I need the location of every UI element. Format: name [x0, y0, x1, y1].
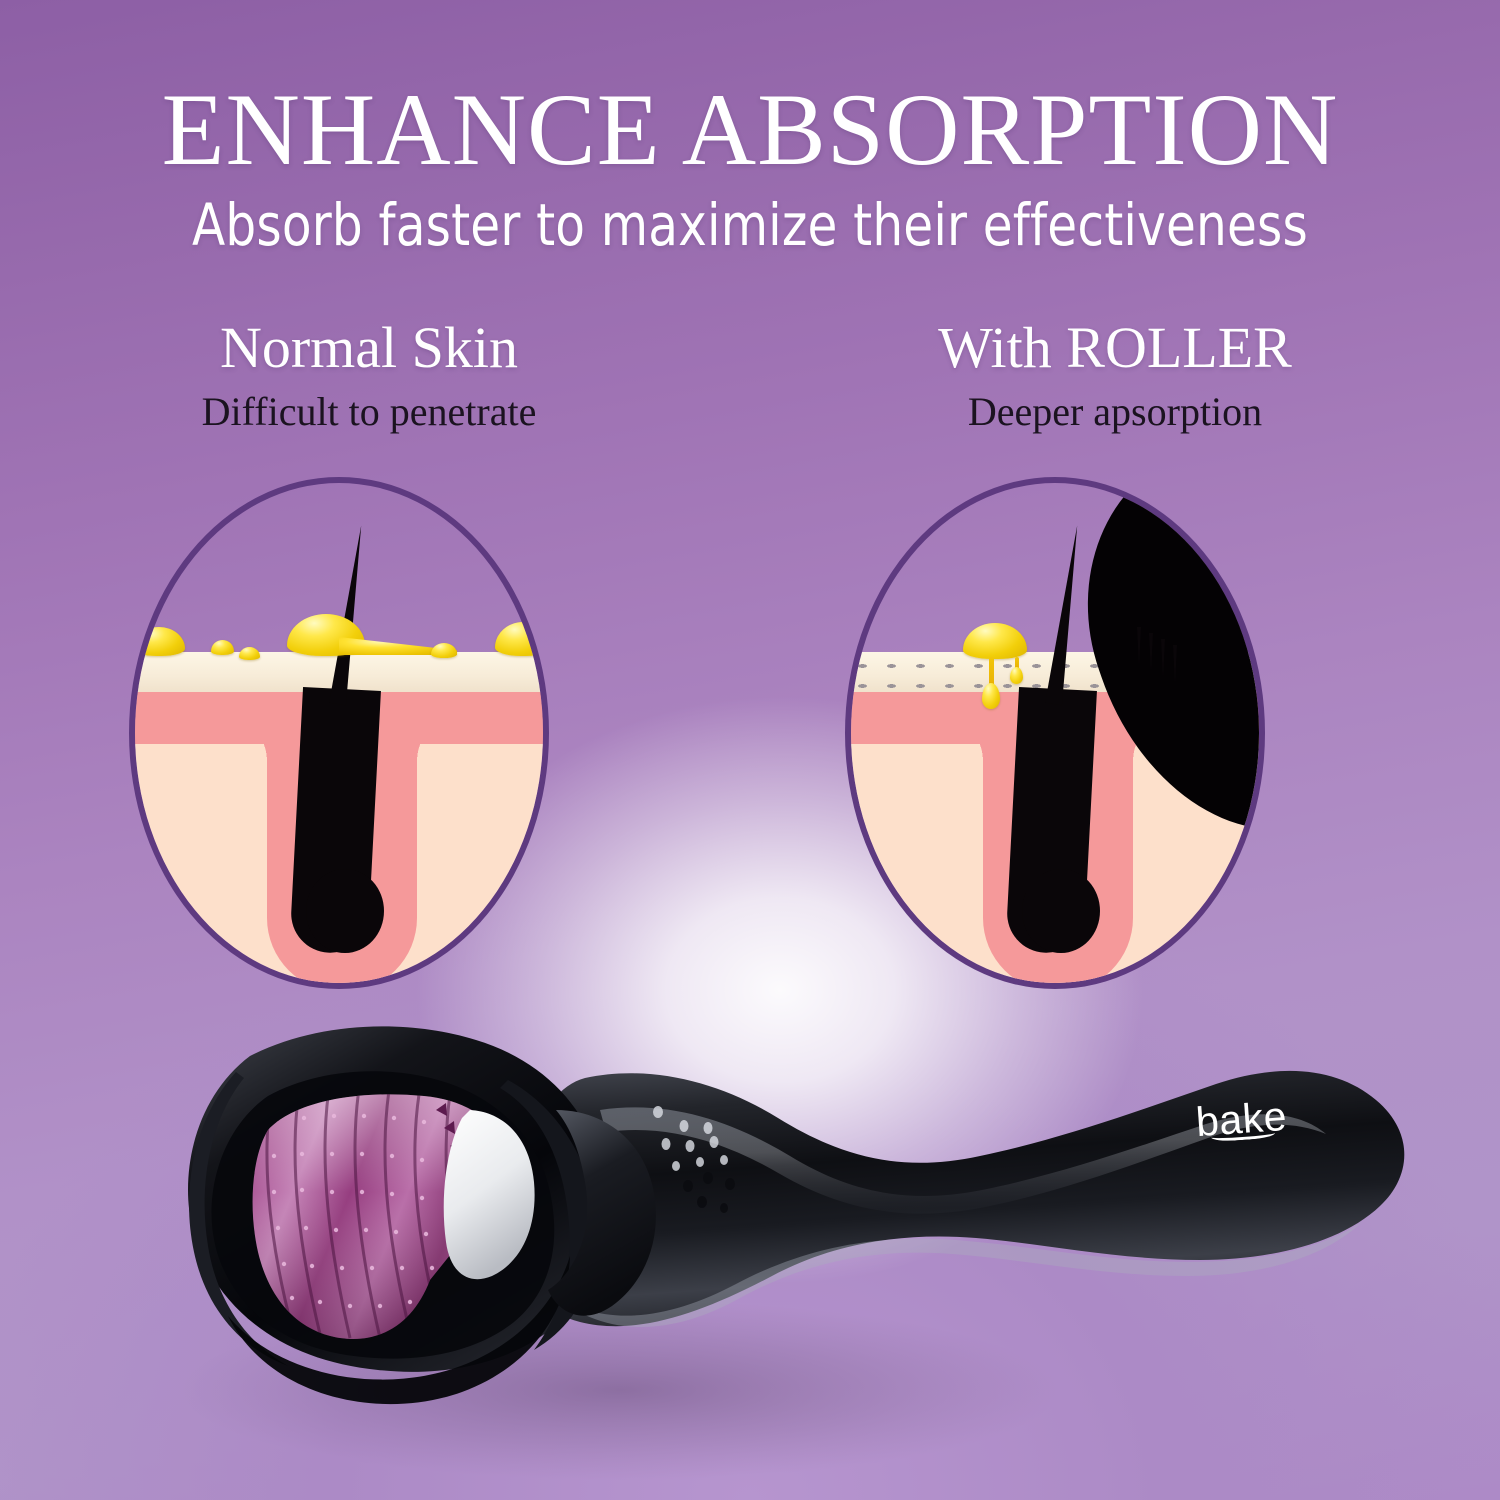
brand-logo: bake [1194, 1093, 1288, 1146]
page-subtitle: Absorb faster to maximize their effectiv… [53, 191, 1448, 259]
page-title: ENHANCE ABSORPTION [0, 78, 1500, 183]
skin-diagram-with-roller-inner [845, 477, 1265, 989]
handle-rim-light [548, 1222, 1362, 1327]
head-undershadow [228, 1256, 570, 1404]
serum-droplet [211, 640, 234, 655]
roller-yoke-arm-left [189, 1072, 288, 1366]
roller-yoke-arm [500, 1080, 597, 1350]
microneedle [1149, 633, 1153, 673]
microneedle [1137, 627, 1141, 667]
hair-follicle-root [306, 869, 384, 953]
serum-droplet [431, 643, 457, 658]
hair-follicle-root [1022, 869, 1100, 953]
panel-heading-normal-skin: Normal Skin [0, 318, 744, 379]
panel-caption-with-roller: Deeper apsorption [740, 391, 1490, 433]
product-infographic: ENHANCE ABSORPTION Absorb faster to maxi… [0, 0, 1500, 1500]
serum-droplet [239, 647, 260, 660]
serum-drip-bead [982, 683, 1000, 709]
roller-head-housing [188, 1026, 606, 1372]
product-shadow [180, 1300, 1060, 1480]
panel-label-with-roller: With ROLLER Deeper apsorption [740, 318, 1490, 433]
drum-end-cap [444, 1110, 535, 1279]
header: ENHANCE ABSORPTION Absorb faster to maxi… [0, 0, 1500, 259]
panel-caption-normal-skin: Difficult to penetrate [0, 391, 744, 433]
roller-yoke-cavity [212, 1071, 555, 1358]
serum-drip-bead [1010, 667, 1023, 684]
panel-label-normal-skin: Normal Skin Difficult to penetrate [0, 318, 744, 433]
derma-roller-product-image [0, 960, 1500, 1500]
microneedle [1161, 639, 1165, 679]
panel-heading-with-roller: With ROLLER [740, 318, 1490, 379]
head-handle-connector [548, 1110, 656, 1316]
grip-texture-dark [683, 1172, 735, 1213]
skin-diagram-normal [129, 477, 549, 989]
skin-diagram-normal-inner [129, 477, 549, 989]
comparison-labels: Normal Skin Difficult to penetrate With … [0, 318, 1500, 433]
grip-texture [653, 1106, 728, 1171]
skin-diagram-with-roller [845, 477, 1265, 989]
microneedle-drum [230, 1080, 550, 1360]
microneedle [1173, 645, 1177, 685]
